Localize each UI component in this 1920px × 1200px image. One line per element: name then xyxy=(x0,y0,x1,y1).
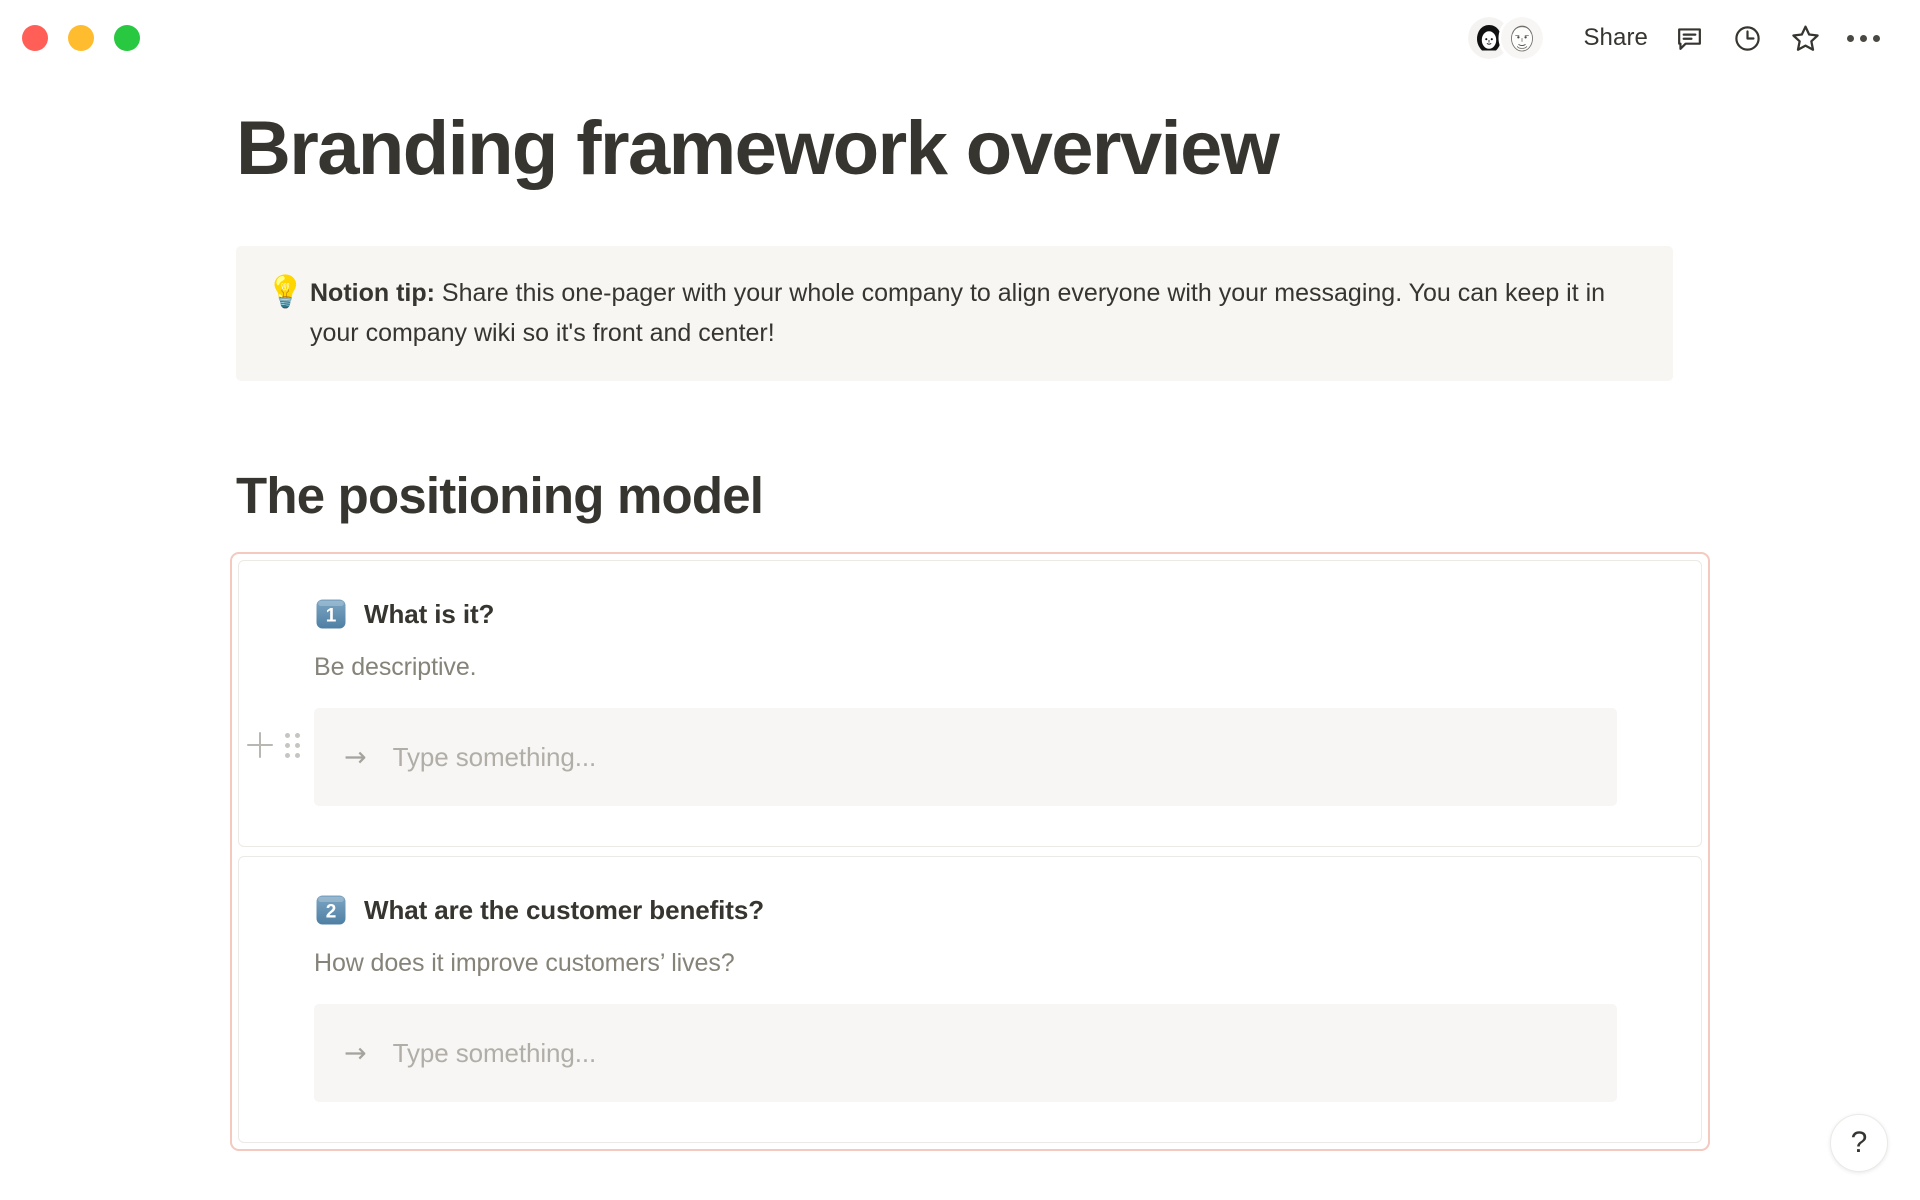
drag-dot xyxy=(295,733,300,738)
window-titlebar: Share xyxy=(0,0,1920,76)
page-content: Branding framework overview 💡 Notion tip… xyxy=(230,111,1690,1151)
card-hint: How does it improve customers’ lives? xyxy=(239,949,1701,978)
history-icon[interactable] xyxy=(1720,13,1774,63)
input-placeholder: Type something... xyxy=(393,742,597,773)
arrow-right-icon: → xyxy=(344,1040,367,1067)
block-row: → Type something... xyxy=(239,708,1701,806)
drag-dot xyxy=(285,733,290,738)
keycap-two-emoji: 2 xyxy=(314,893,348,927)
card-question: What are the customer benefits? xyxy=(364,895,764,926)
window-close-button[interactable] xyxy=(22,25,48,51)
framework-card: 2 What are the customer benefits? How do… xyxy=(238,856,1702,1143)
lightbulb-emoji: 💡 xyxy=(266,272,310,312)
framework-card: 1 What is it? Be descriptive. xyxy=(238,560,1702,847)
drag-dot xyxy=(295,753,300,758)
svg-text:1: 1 xyxy=(326,606,337,627)
callout-body: Share this one-pager with your whole com… xyxy=(310,279,1605,347)
share-button[interactable]: Share xyxy=(1573,18,1658,58)
card-header: 2 What are the customer benefits? xyxy=(239,893,1701,927)
add-block-plus-icon[interactable] xyxy=(247,732,273,758)
star-icon[interactable] xyxy=(1778,13,1832,63)
page-title[interactable]: Branding framework overview xyxy=(236,111,1690,187)
card-header: 1 What is it? xyxy=(239,597,1701,631)
arrow-right-icon: → xyxy=(344,744,367,771)
svg-text:2: 2 xyxy=(326,902,337,923)
more-dot-3 xyxy=(1873,35,1880,42)
more-dot-1 xyxy=(1847,35,1854,42)
page-scroll-area[interactable]: Branding framework overview 💡 Notion tip… xyxy=(0,76,1920,1200)
drag-dot xyxy=(285,753,290,758)
avatar-user-2[interactable] xyxy=(1501,17,1543,59)
notion-tip-callout[interactable]: 💡 Notion tip: Share this one-pager with … xyxy=(236,246,1673,381)
help-button[interactable]: ? xyxy=(1830,1114,1888,1172)
app-window: Share xyxy=(0,0,1920,1200)
callout-bold-lead: Notion tip: xyxy=(310,279,435,307)
comment-icon[interactable] xyxy=(1662,13,1716,63)
more-dot-2 xyxy=(1860,35,1867,42)
window-maximize-button[interactable] xyxy=(114,25,140,51)
input-placeholder: Type something... xyxy=(393,1038,597,1069)
section-heading-positioning-model[interactable]: The positioning model xyxy=(236,466,1690,525)
callout-text: Notion tip: Share this one-pager with yo… xyxy=(310,272,1643,353)
card-question: What is it? xyxy=(364,599,494,630)
more-dots xyxy=(1847,35,1880,42)
drag-handle-icon[interactable] xyxy=(285,733,300,758)
keycap-one-emoji: 1 xyxy=(314,597,348,631)
window-minimize-button[interactable] xyxy=(68,25,94,51)
block-hover-controls xyxy=(247,732,307,758)
positioning-model-container: 1 What is it? Be descriptive. xyxy=(230,552,1710,1151)
traffic-light-controls xyxy=(22,25,140,51)
type-something-input[interactable]: → Type something... xyxy=(314,708,1617,806)
drag-dot xyxy=(295,743,300,748)
type-something-input[interactable]: → Type something... xyxy=(314,1004,1617,1102)
more-icon[interactable] xyxy=(1836,13,1890,63)
card-hint: Be descriptive. xyxy=(239,653,1701,682)
block-row: → Type something... xyxy=(239,1004,1701,1102)
collaborator-avatars[interactable] xyxy=(1464,13,1547,63)
drag-dot xyxy=(285,743,290,748)
titlebar-actions: Share xyxy=(1464,0,1890,76)
